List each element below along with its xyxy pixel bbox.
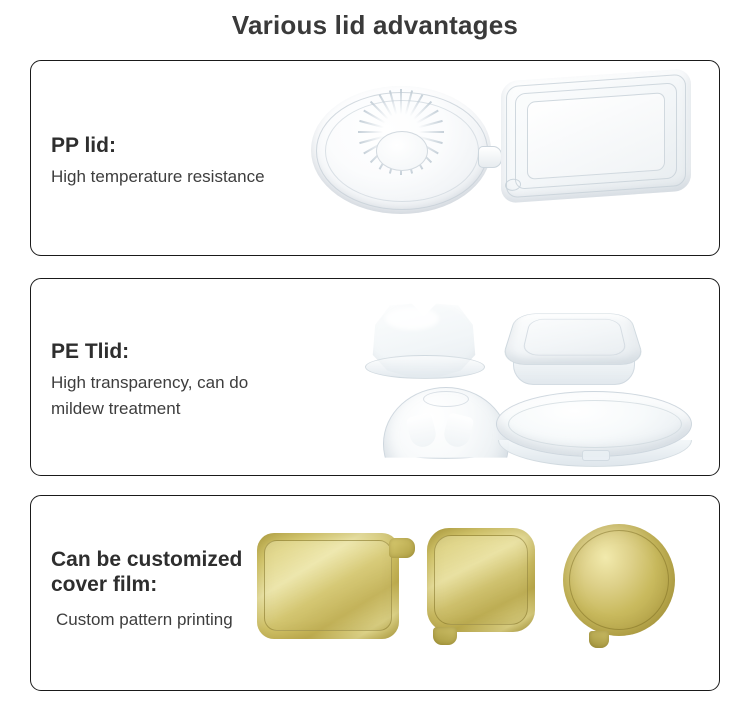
page-title: Various lid advantages — [0, 10, 750, 41]
heart-lid-base-lip — [365, 355, 484, 379]
gold-round-inner-panel — [569, 530, 669, 630]
heart-lid-highlight — [385, 307, 439, 330]
dome-lid-cap — [383, 387, 509, 501]
rect-lid-corner-notch — [505, 178, 521, 191]
advantage-card-pe-lid: PE Tlid: High transparency, can do milde… — [30, 278, 720, 476]
cover-film-description: Custom pattern printing — [51, 607, 242, 633]
square-pe-lid-image — [509, 295, 637, 377]
pp-lid-description: High temperature resistance — [51, 164, 265, 190]
pp-lid-text-block: PP lid: High temperature resistance — [51, 134, 265, 190]
round-lid-outer-rim — [316, 92, 487, 209]
oval-lid-skirt — [498, 440, 692, 467]
gold-rect-inner-panel — [264, 540, 392, 631]
pp-lid-heading: PP lid: — [51, 134, 265, 159]
advantage-card-pp-lid: PP lid: High temperature resistance — [30, 60, 720, 256]
rect-lid-ring-middle — [515, 82, 677, 189]
pe-lid-text-block: PE Tlid: High transparency, can do milde… — [51, 340, 248, 421]
heart-lid-body — [363, 295, 485, 383]
square-lid-skirt — [513, 360, 635, 385]
heart-pe-lid-image — [363, 295, 485, 383]
dome-lid-facet-left — [406, 412, 439, 449]
cover-film-heading: Can be customized cover film: — [51, 548, 242, 598]
square-gold-foil-lid-image — [427, 528, 535, 632]
rectangular-pp-lid-image — [501, 68, 691, 203]
rect-lid-ring-outer — [506, 74, 686, 199]
round-lid-body — [311, 86, 491, 214]
pe-lid-description: High transparency, can do mildew treatme… — [51, 370, 248, 422]
round-lid-center-hub — [376, 131, 428, 171]
gold-square-pull-tab — [433, 627, 457, 645]
dome-lid-facet-right — [442, 412, 475, 449]
round-lid-inner-rim — [325, 100, 478, 202]
advantage-card-cover-film: Can be customized cover film: Custom pat… — [30, 495, 720, 691]
gold-round-pull-tab — [589, 631, 609, 648]
oval-pe-lid-image — [496, 391, 692, 457]
rectangular-gold-foil-lid-image — [257, 533, 399, 639]
round-gold-foil-lid-image — [563, 524, 675, 636]
pe-lid-heading: PE Tlid: — [51, 340, 248, 365]
gold-rect-pull-tab — [389, 538, 415, 558]
square-lid-body — [500, 314, 646, 365]
dome-pe-lid-image — [383, 387, 507, 459]
oval-lid-inner-ring — [508, 400, 682, 448]
cover-film-text-block: Can be customized cover film: Custom pat… — [51, 548, 242, 632]
round-lid-pull-tab — [478, 146, 502, 168]
oval-lid-body — [496, 391, 692, 457]
round-lid-rib-spokes — [311, 86, 491, 214]
gold-square-inner-panel — [434, 535, 528, 625]
dome-lid-top-ring — [423, 391, 470, 407]
oval-lid-front-notch — [582, 450, 610, 461]
round-pp-lid-image — [311, 86, 491, 214]
rect-lid-ring-inner — [527, 92, 665, 180]
square-lid-inner-panel — [521, 319, 627, 356]
dome-lid-base-ring — [385, 437, 505, 459]
